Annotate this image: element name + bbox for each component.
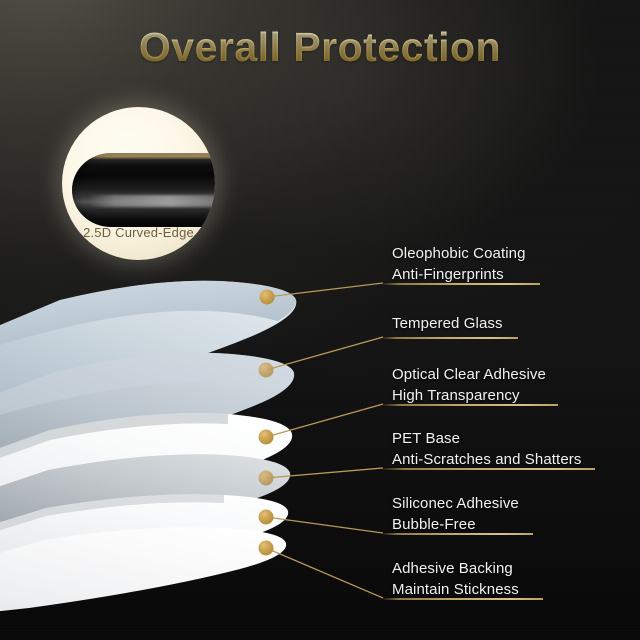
connector-dot-optical-clear-adhesive (259, 430, 274, 445)
callout-line1: Siliconec Adhesive (392, 495, 519, 512)
callout-line1: Adhesive Backing (392, 560, 513, 577)
callout-line1: PET Base (392, 430, 460, 447)
callout-label-oleophobic-coating: Oleophobic Coating Anti-Fingerprints (392, 243, 526, 286)
connector-dot-pet-base (259, 471, 274, 486)
callout-underline-tempered-glass (383, 337, 518, 339)
callout-line1: Oleophobic Coating (392, 245, 526, 262)
connector-dot-tempered-glass (259, 363, 274, 378)
phone-edge-highlight (88, 195, 215, 207)
connector-dot-oleophobic-coating (260, 290, 275, 305)
callout-underline-oleophobic-coating (383, 283, 540, 285)
callout-line1: Optical Clear Adhesive (392, 366, 546, 383)
connector-dot-adhesive-backing (259, 541, 274, 556)
callout-underline-pet-base (383, 468, 595, 470)
callout-label-siliconec-adhesive: Siliconec Adhesive Bubble-Free (392, 493, 519, 536)
phone-edge-illustration (72, 153, 215, 227)
callout-line1: Tempered Glass (392, 315, 503, 332)
callout-label-optical-clear-adhesive: Optical Clear Adhesive High Transparency (392, 364, 546, 407)
callout-underline-adhesive-backing (383, 598, 543, 600)
inset-caption: 2.5D Curved-Edge (62, 225, 215, 240)
callout-underline-optical-clear-adhesive (383, 404, 558, 406)
curved-edge-inset: 2.5D Curved-Edge (62, 107, 215, 260)
callout-underline-siliconec-adhesive (383, 533, 533, 535)
callout-label-tempered-glass: Tempered Glass (392, 313, 503, 334)
page-title: Overall Protection (0, 24, 640, 71)
product-infographic: Overall Protection 2.5D Curved-Edge (0, 0, 640, 640)
callout-label-adhesive-backing: Adhesive Backing Maintain Stickness (392, 558, 519, 601)
callout-label-pet-base: PET Base Anti-Scratches and Shatters (392, 428, 581, 471)
connector-dot-siliconec-adhesive (259, 510, 274, 525)
